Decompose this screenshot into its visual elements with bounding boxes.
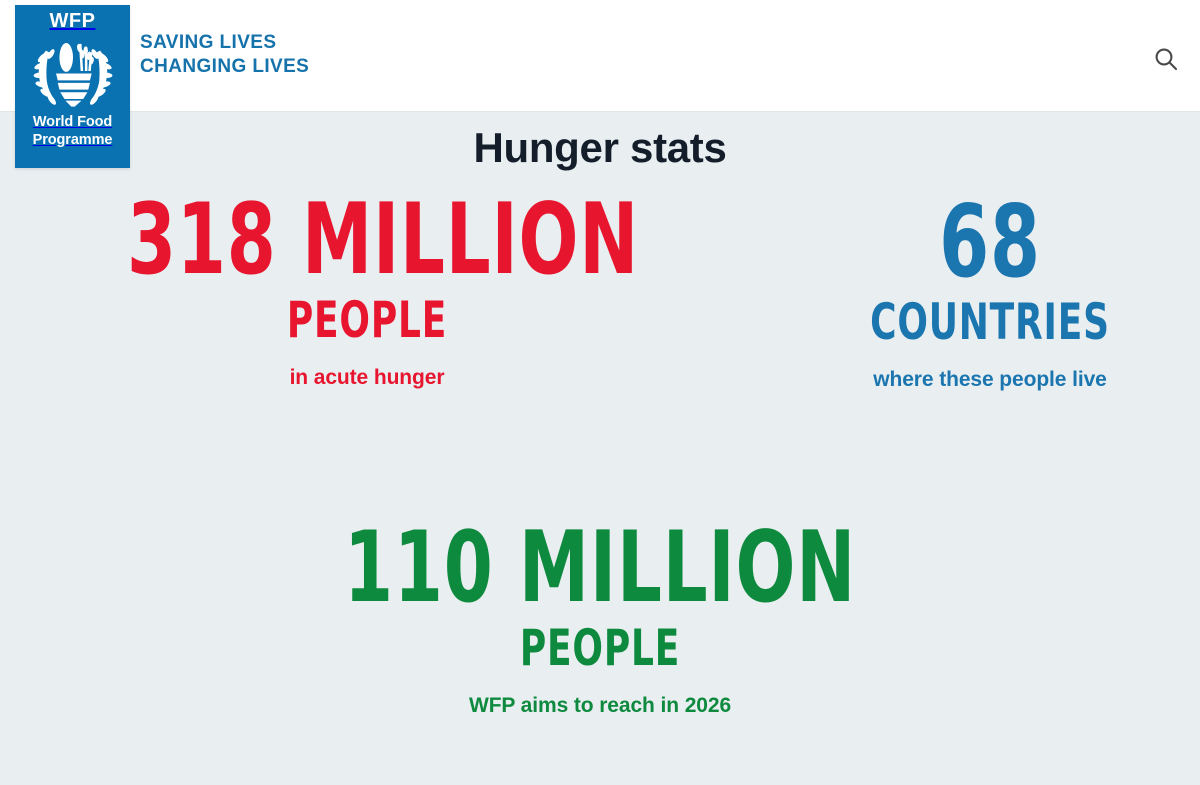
stats-row-top: 318 MILLION PEOPLE in acute hunger 68 CO… bbox=[0, 194, 1200, 424]
wfp-logo[interactable]: WFP bbox=[15, 5, 130, 168]
tagline-line-2: CHANGING LIVES bbox=[140, 55, 309, 79]
stat-unit: PEOPLE bbox=[120, 623, 1080, 673]
stat-caption: where these people live bbox=[700, 369, 1200, 390]
stat-value: 110 MILLION bbox=[120, 522, 1080, 615]
search-button[interactable] bbox=[1144, 40, 1188, 80]
stat-card-countries: 68 COUNTRIES where these people live bbox=[700, 194, 1200, 390]
stat-caption: in acute hunger bbox=[67, 367, 667, 388]
hunger-stats-section: Hunger stats 318 MILLION PEOPLE in acute… bbox=[0, 112, 1200, 785]
stat-card-acute-hunger: 318 MILLION PEOPLE in acute hunger bbox=[67, 194, 667, 388]
wfp-acronym: WFP bbox=[50, 11, 96, 31]
stat-card-wfp-target: 110 MILLION PEOPLE WFP aims to reach in … bbox=[0, 522, 1200, 716]
page-title: Hunger stats bbox=[0, 112, 1200, 172]
tagline-line-1: SAVING LIVES bbox=[140, 31, 309, 55]
stat-unit: PEOPLE bbox=[127, 295, 607, 345]
stat-caption: WFP aims to reach in 2026 bbox=[0, 695, 1200, 716]
wfp-emblem-icon bbox=[30, 32, 116, 110]
search-icon bbox=[1153, 46, 1179, 75]
stat-unit: COUNTRIES bbox=[758, 297, 1200, 347]
brand-tagline: SAVING LIVES CHANGING LIVES bbox=[140, 31, 309, 79]
stat-value: 68 bbox=[758, 194, 1200, 289]
wfp-org-name: World Food Programme bbox=[33, 113, 113, 149]
stat-value: 318 MILLION bbox=[127, 194, 607, 287]
